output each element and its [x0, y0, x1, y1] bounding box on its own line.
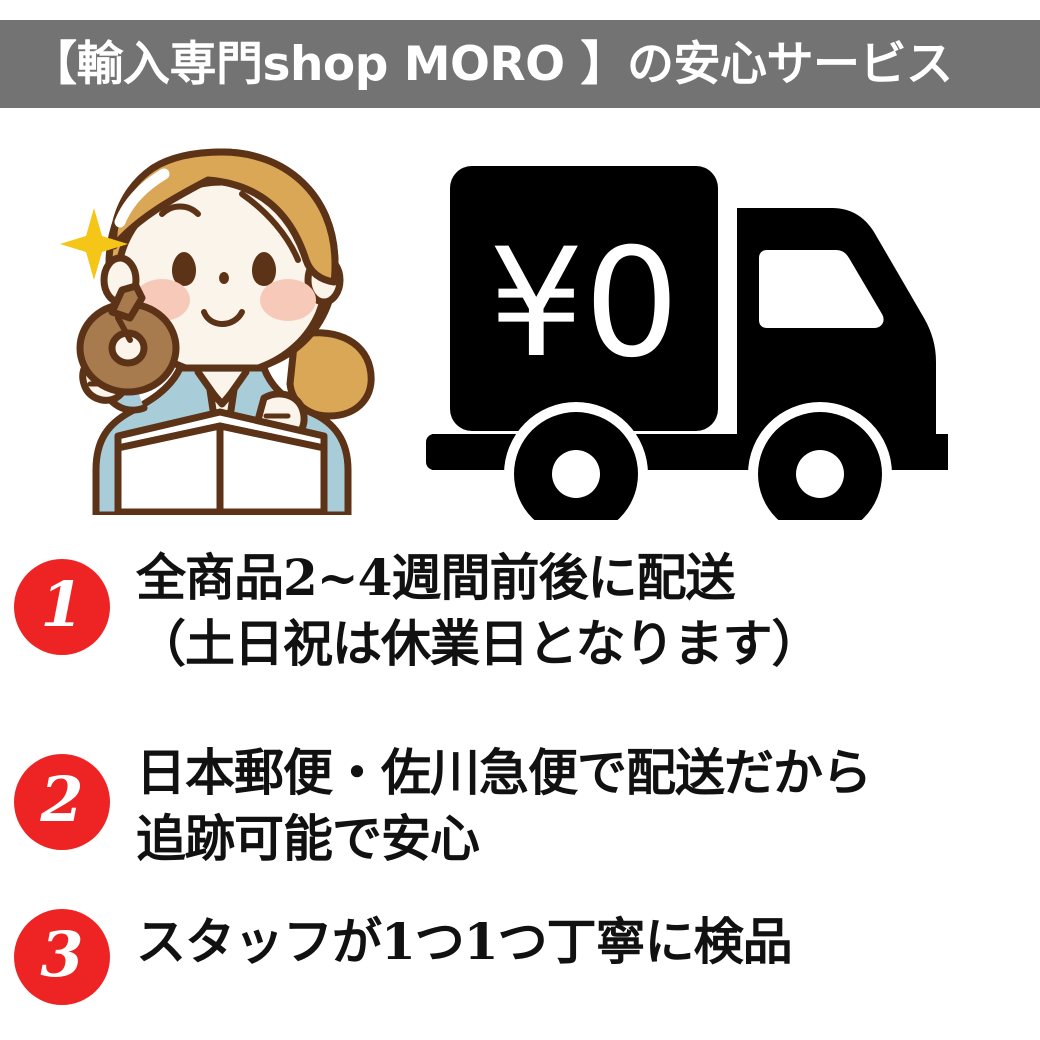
feature-line: スタッフが1つ1つ丁寧に検品 — [136, 909, 1040, 975]
status-badge: 3 — [14, 909, 110, 1005]
list-item: 1 全商品2~4週間前後に配送 （土日祝は休業日となります） — [0, 545, 1040, 677]
list-item: 2 日本郵便・佐川急便で配送だから 追跡可能で安心 — [0, 740, 1040, 872]
feature-line: 追跡可能で安心 — [136, 806, 1040, 872]
free-shipping-truck-icon: ¥0 — [412, 150, 1012, 520]
feature-line: 全商品2~4週間前後に配送 — [136, 545, 1040, 611]
page-title: 【輸入専門shop MORO 】の安心サービス — [30, 41, 952, 88]
badge-number: 3 — [40, 924, 83, 986]
feature-text: 全商品2~4週間前後に配送 （土日祝は休業日となります） — [136, 545, 1040, 677]
truck-price-label: ¥0 — [489, 217, 680, 391]
badge-number: 2 — [40, 769, 83, 831]
illustration-row: ¥0 — [0, 130, 1040, 540]
packing-staff-illustration — [52, 140, 392, 515]
header-banner: 【輸入専門shop MORO 】の安心サービス — [0, 20, 1040, 108]
feature-line: 日本郵便・佐川急便で配送だから — [136, 740, 1040, 806]
feature-text: 日本郵便・佐川急便で配送だから 追跡可能で安心 — [136, 740, 1040, 872]
feature-text: スタッフが1つ1つ丁寧に検品 — [136, 909, 1040, 975]
status-badge: 2 — [14, 754, 110, 850]
badge-number: 1 — [40, 574, 83, 636]
service-info-banner-page: 【輸入専門shop MORO 】の安心サービス — [0, 0, 1040, 1040]
status-badge: 1 — [14, 559, 110, 655]
feature-line: （土日祝は休業日となります） — [136, 611, 1040, 677]
list-item: 3 スタッフが1つ1つ丁寧に検品 — [0, 895, 1040, 1005]
